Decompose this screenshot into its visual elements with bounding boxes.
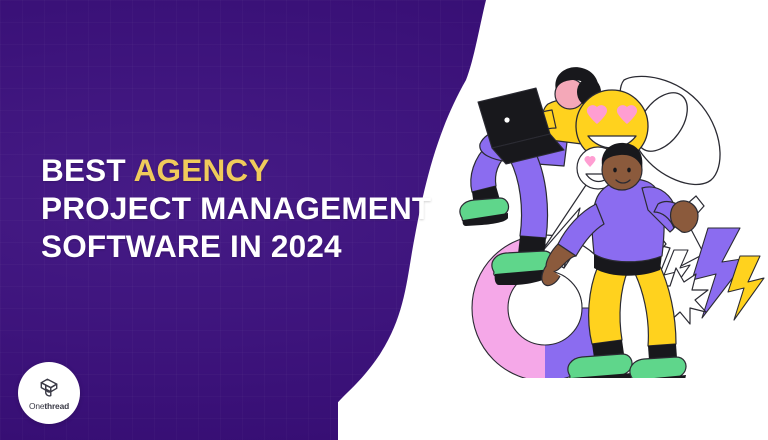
logo-word-one: One [29,401,44,411]
headline-line-1: BEST AGENCY [41,151,471,189]
headline-line-1-prefix: BEST [41,152,134,188]
cube-thread-mark-icon [36,375,62,401]
onethread-logo[interactable]: Onethread [18,362,80,424]
headline-line-2: PROJECT MANAGEMENT [41,189,471,227]
logo-word-thread: thread [44,401,69,411]
headline-line-3: SOFTWARE IN 2024 [41,227,471,265]
headline-accent-word: AGENCY [134,152,270,188]
logo-wordmark: Onethread [29,402,69,410]
page-title: BEST AGENCY PROJECT MANAGEMENT SOFTWARE … [41,151,471,265]
blog-banner: BEST AGENCY PROJECT MANAGEMENT SOFTWARE … [0,0,768,440]
teamwork-illustration [452,58,768,378]
